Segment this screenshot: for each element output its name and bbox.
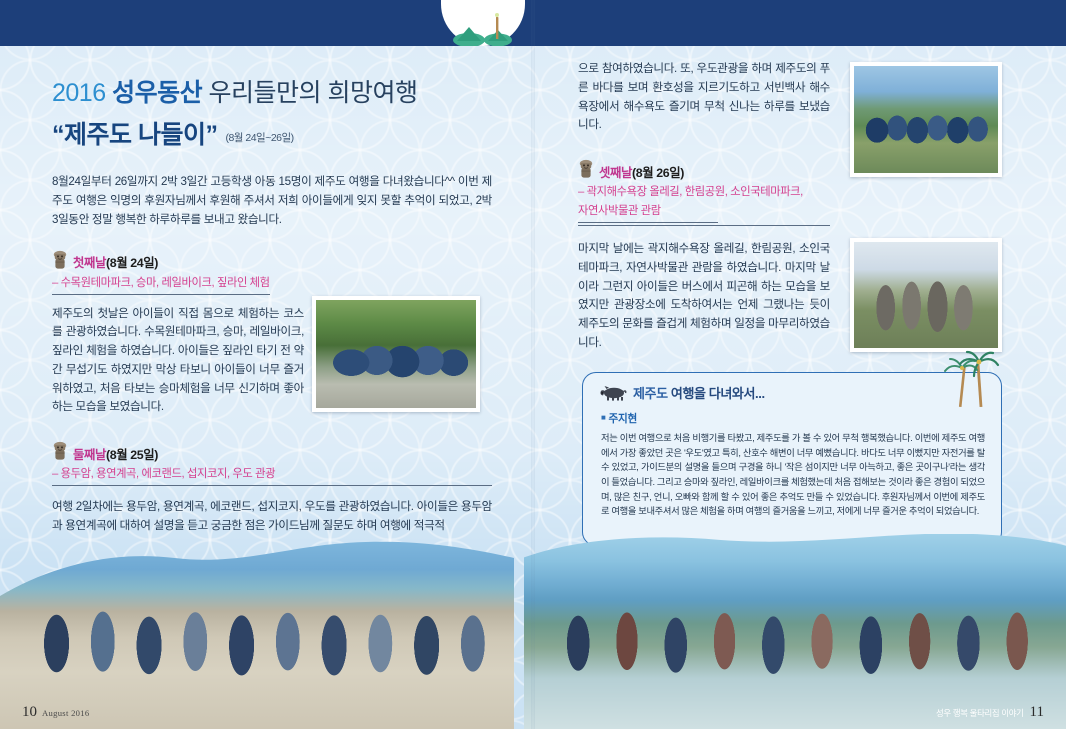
day-1-date: (8월 24일) xyxy=(106,256,158,270)
testimonial-author: ■주지현 xyxy=(601,411,1001,426)
page-number-left: 10 xyxy=(22,704,37,721)
dolhareubang-icon xyxy=(52,250,68,270)
day-block-3: 셋째날(8월 26일) – 곽지해수욕장 올레길, 한림공원, 소인국테마파크,… xyxy=(578,159,830,353)
day-2-label: 둘째날 xyxy=(73,448,106,462)
day-block-2: 둘째날(8월 25일) – 용두암, 용연계곡, 에코랜드, 섭지코지, 우도 … xyxy=(52,441,492,536)
day-1-title: 첫째날(8월 24일) xyxy=(73,257,158,269)
photo-bottom-shore-image xyxy=(524,534,1066,729)
day-3-title: 셋째날(8월 26일) xyxy=(599,167,684,179)
testimonial-header: 제주도 여행을 다녀와서... xyxy=(583,373,1001,402)
testimonial-title: 제주도 여행을 다녀와서... xyxy=(633,383,765,402)
day-1-heading: 첫째날(8월 24일) xyxy=(52,250,492,270)
dolhareubang-icon xyxy=(52,441,68,461)
intro-paragraph: 8월24일부터 26일까지 2박 3일간 고등학생 아동 15명이 제주도 여행… xyxy=(52,173,492,229)
continuation-paragraph: 으로 참여하였습니다. 또, 우도관광을 하며 제주도의 푸른 바다를 보며 환… xyxy=(578,60,830,135)
black-pig-icon xyxy=(599,385,627,401)
page-number-right: 11 xyxy=(1030,704,1044,721)
day-3-subtitle-line1: – 곽지해수욕장 올레길, 한림공원, 소인국테마파크, xyxy=(578,186,803,198)
day-3-heading: 셋째날(8월 26일) xyxy=(578,159,830,179)
day-3-body: 마지막 날에는 곽지해수욕장 올레길, 한림공원, 소인국테마파크, 자연사박물… xyxy=(578,240,830,353)
bottom-photo-strip xyxy=(0,524,1066,729)
footer-left: 10 August 2016 xyxy=(22,704,89,721)
day-1-label: 첫째날 xyxy=(73,256,106,270)
day-3-date: (8월 26일) xyxy=(632,166,684,180)
magazine-spread: 2016 성우동산 우리들만의 희망여행 “제주도 나들이”(8월 24일~26… xyxy=(0,0,1066,729)
testimonial-box: 제주도 여행을 다녀와서... ■주지현 저는 이번 여행으로 처음 비행기를 … xyxy=(582,372,1002,546)
day-1-body: 제주도의 첫날은 아이들이 직접 몸으로 체험하는 코스를 관광하였습니다. 수… xyxy=(52,305,304,418)
day-3-subtitle-line2: 자연사박물관 관람 xyxy=(578,203,718,223)
day-2-title: 둘째날(8월 25일) xyxy=(73,449,158,461)
right-column: 으로 참여하였습니다. 또, 우도관광을 하며 제주도의 푸른 바다를 보며 환… xyxy=(578,60,830,353)
photo-moai-image xyxy=(854,242,998,348)
day-3-label: 셋째날 xyxy=(599,166,632,180)
testimonial-author-name: 주지현 xyxy=(609,413,637,425)
photo-day1-image xyxy=(316,300,476,408)
day-1-subtitle: – 수목원테마파크, 승마, 레일바이크, 짚라인 체험 xyxy=(52,275,270,295)
testimonial-title-part2: 여행을 다녀와서... xyxy=(671,386,765,401)
photo-moai-statues xyxy=(850,238,1002,352)
photo-beach-image xyxy=(854,66,998,173)
title-dates: (8월 24일~26일) xyxy=(225,132,293,144)
photo-bottom-shore-group xyxy=(524,534,1066,729)
top-bar xyxy=(0,0,1066,46)
testimonial-body: 저는 이번 여행으로 처음 비행기를 타봤고, 제주도를 가 볼 수 있어 무척… xyxy=(601,431,985,519)
footer-label-right: 성우 행복 울타리집 이야기 xyxy=(936,707,1024,719)
photo-beach-group xyxy=(850,62,1002,177)
photo-bottom-beach-group xyxy=(0,539,514,729)
footer-label-left: August 2016 xyxy=(42,708,89,718)
page-title-line1: 2016 성우동산 우리들만의 희망여행 xyxy=(52,78,492,109)
page-title-line2: “제주도 나들이”(8월 24일~26일) xyxy=(52,115,492,151)
photo-bottom-beach-image xyxy=(0,539,514,729)
title-org: 성우동산 xyxy=(112,79,202,107)
day-3-subtitle: – 곽지해수욕장 올레길, 한림공원, 소인국테마파크, 자연사박물관 관람 xyxy=(578,184,830,226)
footer-right: 성우 행복 울타리집 이야기 11 xyxy=(936,704,1044,721)
testimonial-title-part1: 제주도 xyxy=(633,386,668,401)
photo-day1-group xyxy=(312,296,480,412)
day-2-subtitle: – 용두암, 용연계곡, 에코랜드, 섭지코지, 우도 관광 xyxy=(52,466,492,486)
bullet-icon: ■ xyxy=(601,413,606,422)
dolhareubang-icon xyxy=(578,159,594,179)
title-year: 2016 xyxy=(52,79,106,107)
title-main: “제주도 나들이” xyxy=(52,121,217,149)
title-tagline: 우리들만의 희망여행 xyxy=(209,79,418,107)
day-2-heading: 둘째날(8월 25일) xyxy=(52,441,492,461)
palm-island-icon xyxy=(441,2,525,46)
day-2-date: (8월 25일) xyxy=(106,448,158,462)
